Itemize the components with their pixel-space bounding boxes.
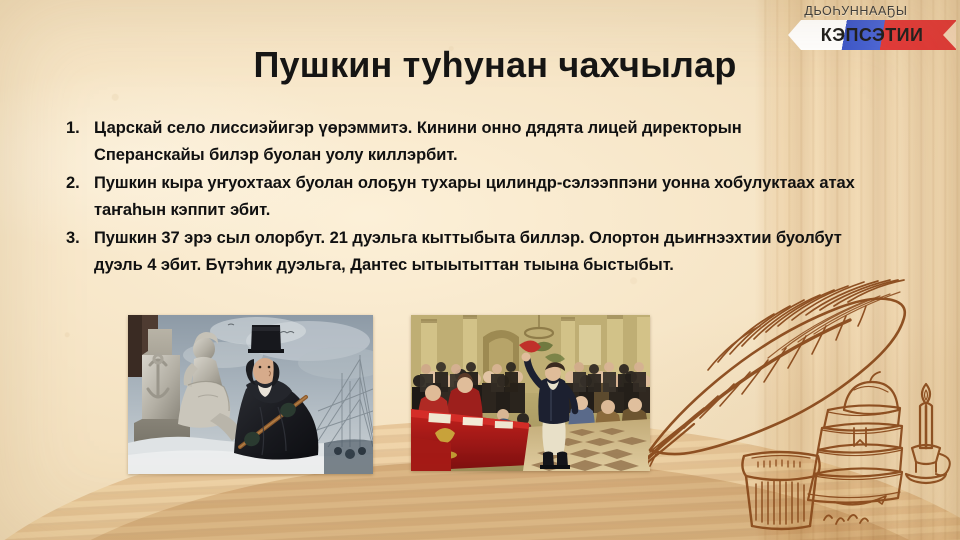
pushkin-neva-illustration [128,315,373,474]
list-item-text: Пушкин кыра уҥуохтаах буолан олоҕун туха… [94,170,856,224]
list-item: 1. Царскай село лиссиэйигэр үөрэммитэ. К… [66,115,856,169]
lyceum-exam-illustration [411,315,650,471]
page-title: Пушкин туһунан чахчылар [0,44,960,86]
list-item-number: 1. [66,115,94,142]
slide-root: ДЬОҺУННААҔЫ КЭПСЭТИИ Пушкин туһунан чахч… [0,0,960,540]
list-item-number: 2. [66,170,94,197]
list-item-number: 3. [66,225,94,252]
quill-ink-books-candle-icon [648,262,960,540]
list-item: 2. Пушкин кыра уҥуохтаах буолан олоҕун т… [66,170,856,224]
list-item-text: Царскай село лиссиэйигэр үөрэммитэ. Кини… [94,115,856,169]
image-pushkin-on-neva-embankment [128,315,373,474]
image-pushkin-lyceum-exam [411,315,650,471]
logo-ribbon-label: КЭПСЭТИИ [821,25,924,46]
quill-illustration [648,262,960,540]
facts-list: 1. Царскай село лиссиэйигэр үөрэммитэ. К… [66,115,856,280]
logo-supertext: ДЬОҺУННААҔЫ [756,4,956,18]
